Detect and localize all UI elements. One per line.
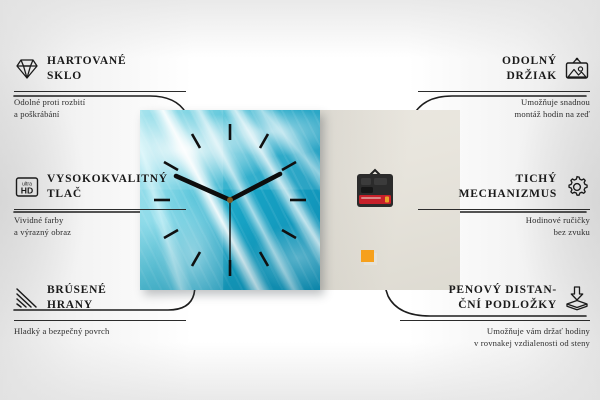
divider — [14, 209, 186, 210]
clock-mechanism — [352, 168, 398, 212]
feature-title: ODOLNÝ DRŽIAK — [502, 54, 557, 83]
feature-title: VYSOKOKVALITNÝ TLAČ — [47, 172, 168, 201]
feature-description: Hodinové ručičky bez zvuku — [418, 214, 590, 238]
feature-header: TICHÝ MECHANIZMUS — [418, 170, 590, 204]
diamond-icon — [14, 56, 40, 82]
feature-description: Odolné proti rozbití a poškrábání — [14, 96, 186, 120]
feature-hartovane-sklo: HARTOVANÉ SKLO Odolné proti rozbití a po… — [14, 52, 186, 120]
feature-tichy-mechanizmus: TICHÝ MECHANIZMUS Hodinové ručičky bez z… — [418, 170, 590, 238]
beveled-edges-icon — [14, 285, 40, 311]
feature-header: BRÚSENÉ HRANY — [14, 281, 186, 315]
feature-header: HARTOVANÉ SKLO — [14, 52, 186, 86]
divider — [418, 209, 590, 210]
feature-description: Hladký a bezpečný povrch — [14, 325, 186, 337]
divider — [14, 91, 186, 92]
picture-hanger-icon — [564, 56, 590, 82]
feature-title: BRÚSENÉ HRANY — [47, 283, 107, 312]
feature-title: PENOVÝ DISTAN- ČNÍ PODLOŽKY — [449, 283, 557, 312]
divider — [418, 91, 590, 92]
product-photo — [140, 110, 460, 290]
feature-vysokokvalitny-tlac: ultra HD VYSOKOKVALITNÝ TLAČ Vividné far… — [14, 170, 186, 238]
infographic-canvas: HARTOVANÉ SKLO Odolné proti rozbití a po… — [0, 0, 600, 400]
foam-pad — [361, 250, 378, 266]
feature-title: TICHÝ MECHANIZMUS — [459, 172, 557, 201]
gear-icon — [564, 174, 590, 200]
feature-description: Umožňuje snadnou montáž hodin na zeď — [418, 96, 590, 120]
foam-pad-icon — [564, 285, 590, 311]
divider — [14, 320, 186, 321]
feature-penove-podlozky: PENOVÝ DISTAN- ČNÍ PODLOŽKY Umožňuje vám… — [400, 281, 590, 349]
feature-title: HARTOVANÉ SKLO — [47, 54, 126, 83]
feature-brusene-hrany: BRÚSENÉ HRANY Hladký a bezpečný povrch — [14, 281, 186, 337]
divider — [400, 320, 590, 321]
ultra-hd-icon: ultra HD — [14, 174, 40, 200]
feature-description: Umožňuje vám držať hodiny v rovnakej vzd… — [400, 325, 590, 349]
feature-description: Vividné farby a výrazný obraz — [14, 214, 186, 238]
feature-header: PENOVÝ DISTAN- ČNÍ PODLOŽKY — [400, 281, 590, 315]
feature-header: ultra HD VYSOKOKVALITNÝ TLAČ — [14, 170, 186, 204]
svg-text:HD: HD — [21, 186, 33, 196]
feature-odolny-drziak: ODOLNÝ DRŽIAK Umožňuje snadnou montáž ho… — [418, 52, 590, 120]
feature-header: ODOLNÝ DRŽIAK — [418, 52, 590, 86]
